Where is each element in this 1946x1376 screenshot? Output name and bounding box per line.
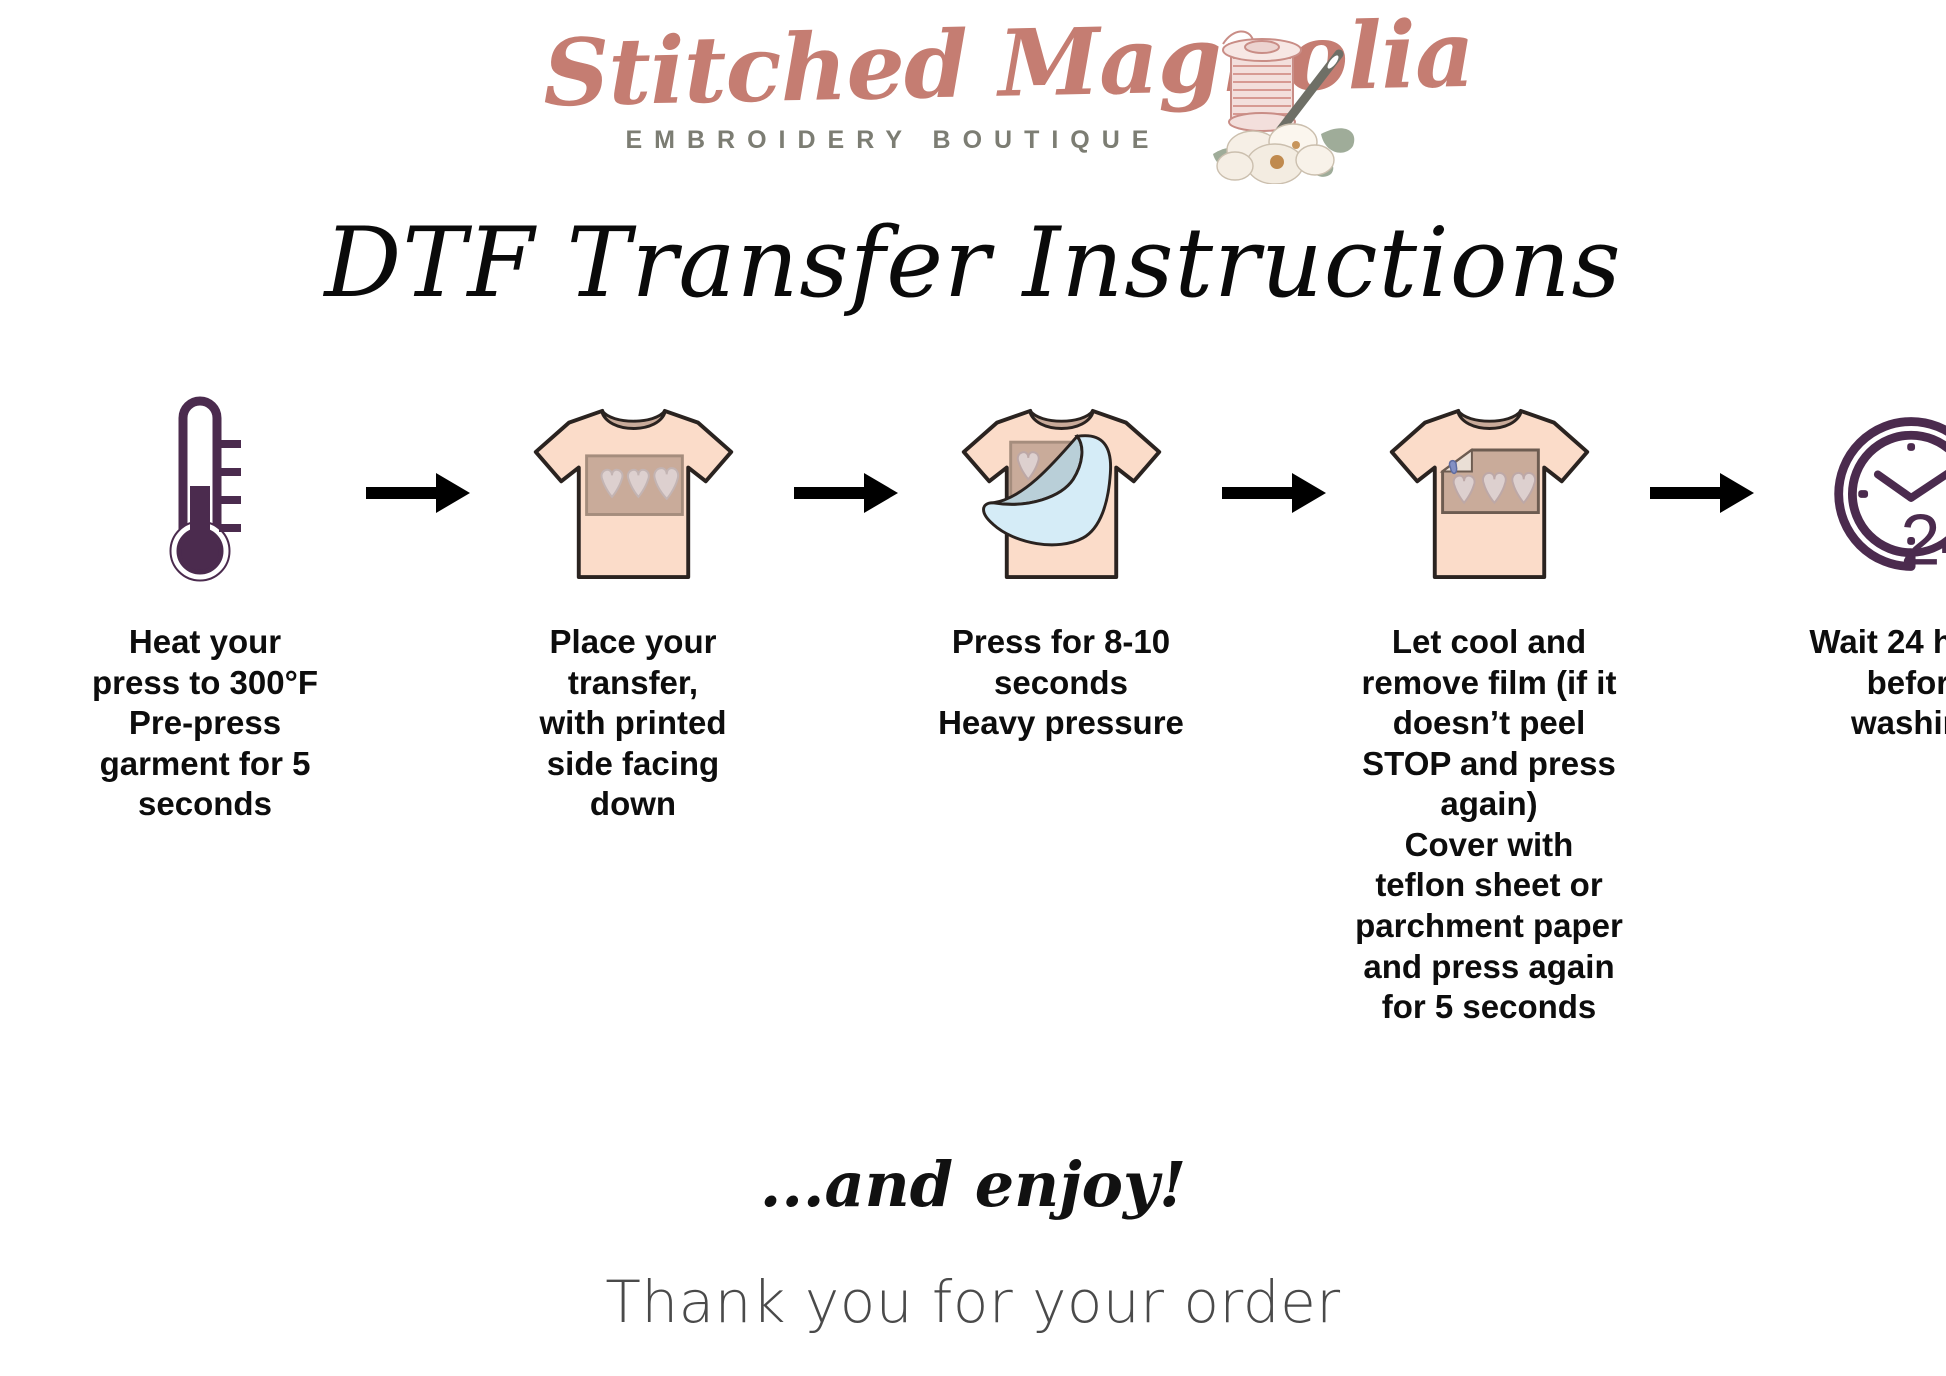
tshirt-peeling-film-icon xyxy=(911,385,1211,600)
arrow-right-icon xyxy=(783,385,911,600)
clock-24-hours-icon: 24 xyxy=(1767,385,1946,600)
page-title: DTF Transfer Instructions xyxy=(0,212,1946,316)
thank-you-text: Thank you for your order xyxy=(0,1268,1946,1336)
tshirt-remove-film-icon xyxy=(1339,385,1639,600)
thread-spool-needle-magnolia-icon xyxy=(1153,14,1403,184)
step-2: Place your transfer, with printed side f… xyxy=(483,385,783,825)
step-5-caption: Wait 24 hours before washing xyxy=(1770,622,1946,744)
step-4: Let cool and remove film (if it doesn’t … xyxy=(1339,385,1639,1028)
step-3: Press for 8-10 seconds Heavy pressure xyxy=(911,385,1211,744)
step-2-caption: Place your transfer, with printed side f… xyxy=(486,622,781,825)
svg-text:24: 24 xyxy=(1900,499,1946,580)
instruction-steps: Heat your press to 300°F Pre-press garme… xyxy=(55,385,1895,1028)
tshirt-with-transfer-icon xyxy=(483,385,783,600)
arrow-right-icon xyxy=(1211,385,1339,600)
thermometer-icon xyxy=(55,385,355,600)
brand-tagline: EMBROIDERY BOUTIQUE xyxy=(543,126,1243,155)
brand-name: Stitched Magnolia xyxy=(542,13,1244,120)
step-5: 24 Wait 24 hours before washing xyxy=(1767,385,1946,744)
step-1: Heat your press to 300°F Pre-press garme… xyxy=(55,385,355,825)
enjoy-text: ...and enjoy! xyxy=(0,1148,1946,1221)
step-3-caption: Press for 8-10 seconds Heavy pressure xyxy=(914,622,1209,744)
step-4-caption: Let cool and remove film (if it doesn’t … xyxy=(1342,622,1637,1028)
brand-logo: Stitched Magnolia EMBROIDERY BOUTIQUE xyxy=(0,14,1946,184)
arrow-right-icon xyxy=(1639,385,1767,600)
arrow-right-icon xyxy=(355,385,483,600)
step-1-caption: Heat your press to 300°F Pre-press garme… xyxy=(58,622,353,825)
